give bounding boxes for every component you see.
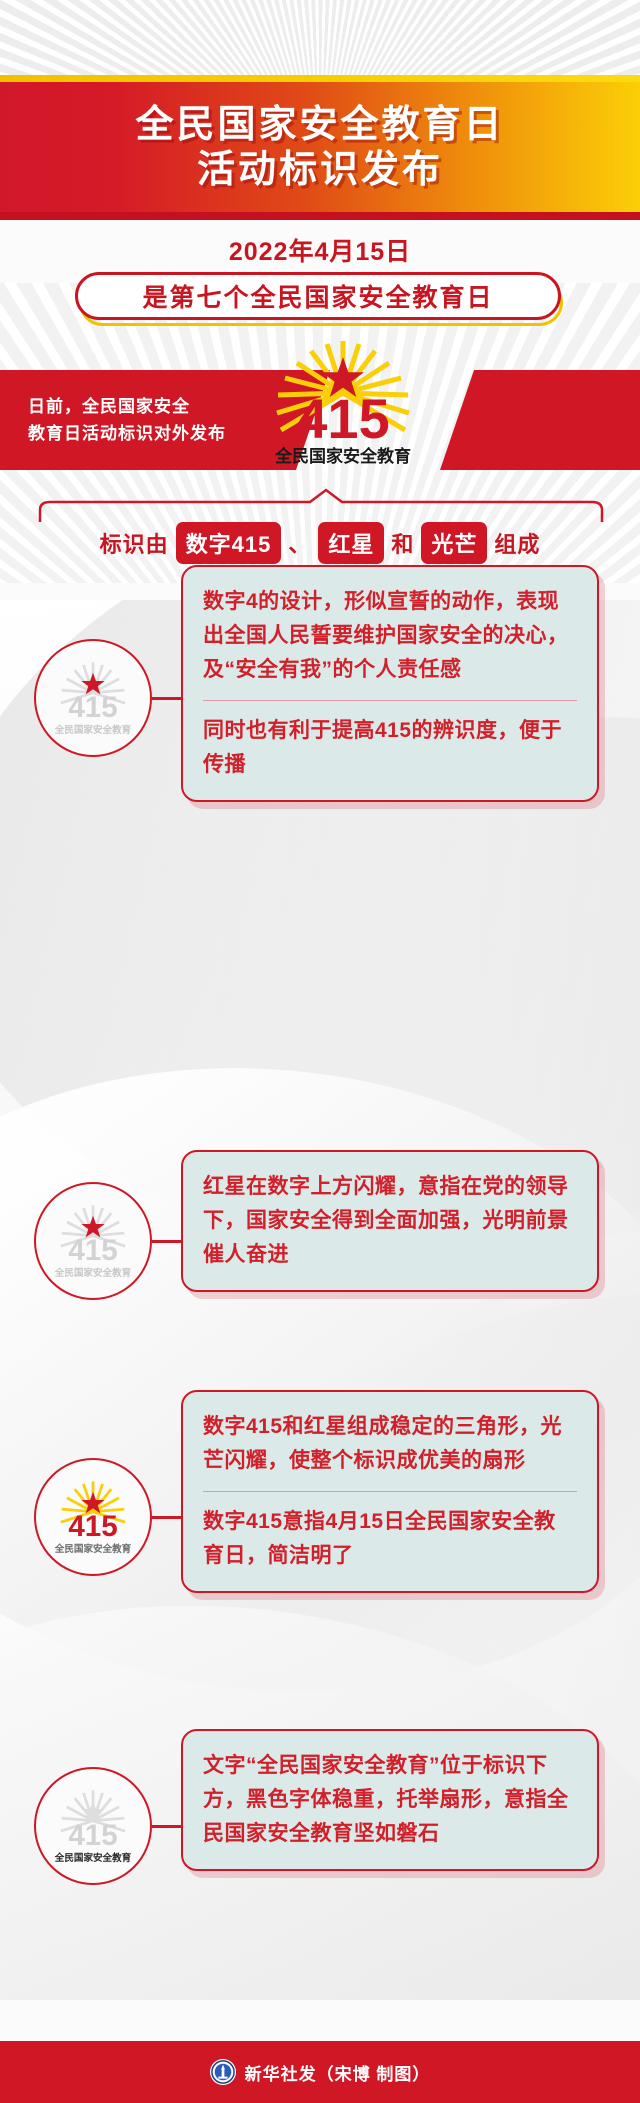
footer-credit: 新华社发（宋博 制图） (245, 2060, 431, 2085)
card-3-icon-bubble: 415 全民国家安全教育 (34, 1458, 152, 1576)
composition-suffix: 组成 (494, 527, 540, 559)
logo-415-svg: 415 全民国家安全教育 (253, 335, 433, 470)
composition-row: 标识由 数字415 、 红星 和 光芒 组成 (0, 522, 640, 564)
bubble-2-numerals: 415 (68, 1234, 117, 1267)
logo-numerals: 415 (296, 387, 389, 450)
composition-tag-star: 红星 (318, 522, 384, 564)
infographic-page: 全民国家安全教育日 活动标识发布 2022年4月15日 是第七个全民国家安全教育… (0, 0, 640, 2103)
banner-right-block (440, 370, 640, 470)
composition-separator: 、 (288, 527, 311, 559)
bubble-4-caption: 全民国家安全教育 (54, 1852, 132, 1864)
explanation-card-1: 数字4的设计，形似宣誓的动作，表现出全国人民誓要维护国家安全的决心，及“安全有我… (181, 565, 599, 802)
bubble-1-logo-415-icon: 415 全民国家安全教育 (45, 658, 141, 738)
header-title-line-1: 全民国家安全教育日 (135, 103, 504, 148)
bubble-2-caption: 全民国家安全教育 (54, 1267, 132, 1279)
card-1-connector (152, 697, 184, 700)
top-rays-background (0, 0, 640, 75)
pill-label: 是第七个全民国家安全教育日 (142, 278, 493, 314)
bubble-3-caption: 全民国家安全教育 (54, 1543, 132, 1555)
composition-prefix: 标识由 (100, 527, 169, 559)
card-1-paragraph-2: 同时也有利于提高415的辨识度，便于传播 (203, 714, 577, 782)
card-3-divider (203, 1491, 577, 1492)
explanation-card-4: 文字“全民国家安全教育”位于标识下方，黑色字体稳重，托举扇形，意指全民国家安全教… (181, 1729, 599, 1871)
bubble-2-logo-415-icon: 415 全民国家安全教育 (45, 1201, 141, 1281)
event-date: 2022年4月15日 (0, 232, 640, 268)
bubble-1-caption: 全民国家安全教育 (54, 724, 132, 736)
bubble-3-logo-415-icon: 415 全民国家安全教育 (45, 1477, 141, 1557)
card-2-icon-bubble: 415 全民国家安全教育 (34, 1182, 152, 1300)
bubble-4-numerals: 415 (68, 1819, 117, 1852)
page-header: 全民国家安全教育日 活动标识发布 (0, 75, 640, 220)
composition-conjunction: 和 (391, 527, 414, 559)
card-1-paragraph-1: 数字4的设计，形似宣誓的动作，表现出全国人民誓要维护国家安全的决心，及“安全有我… (203, 585, 577, 687)
card-2-connector (152, 1240, 184, 1243)
composition-tag-numerals: 数字415 (176, 522, 282, 564)
composition-tag-rays: 光芒 (421, 522, 487, 564)
card-3-paragraph-2: 数字415意指4月15日全民国家安全教育日，简洁明了 (203, 1505, 577, 1573)
card-1-divider (203, 700, 577, 701)
page-footer: 新华社发（宋博 制图） (0, 2041, 640, 2103)
card-4-connector (152, 1825, 184, 1828)
explanation-card-3: 数字415和红星组成稳定的三角形，光芒闪耀，使整个标识成优美的扇形 数字415意… (181, 1390, 599, 1593)
explanation-card-2: 红星在数字上方闪耀，意指在党的领导下，国家安全得到全面加强，光明前景催人奋进 (181, 1150, 599, 1292)
card-2-paragraph-1: 红星在数字上方闪耀，意指在党的领导下，国家安全得到全面加强，光明前景催人奋进 (203, 1170, 577, 1272)
logo-caption: 全民国家安全教育 (274, 446, 411, 466)
brace-connector (36, 488, 606, 522)
bubble-1-numerals: 415 (68, 691, 117, 724)
card-4-icon-bubble: 415 全民国家安全教育 (34, 1767, 152, 1885)
logo-415-emblem: 415 全民国家安全教育 (253, 335, 433, 470)
xinhua-logo-icon (210, 2059, 236, 2085)
bubble-4-logo-415-icon: 415 全民国家安全教育 (45, 1786, 141, 1866)
card-4-paragraph-1: 文字“全民国家安全教育”位于标识下方，黑色字体稳重，托举扇形，意指全民国家安全教… (203, 1749, 577, 1851)
card-3-connector (152, 1516, 184, 1519)
card-3-paragraph-1: 数字415和红星组成稳定的三角形，光芒闪耀，使整个标识成优美的扇形 (203, 1410, 577, 1478)
pill-body: 是第七个全民国家安全教育日 (75, 272, 561, 320)
bubble-3-numerals: 415 (68, 1510, 117, 1543)
anniversary-pill: 是第七个全民国家安全教育日 (75, 272, 565, 326)
card-1-icon-bubble: 415 全民国家安全教育 (34, 639, 152, 757)
header-title-line-2: 活动标识发布 (197, 148, 443, 193)
